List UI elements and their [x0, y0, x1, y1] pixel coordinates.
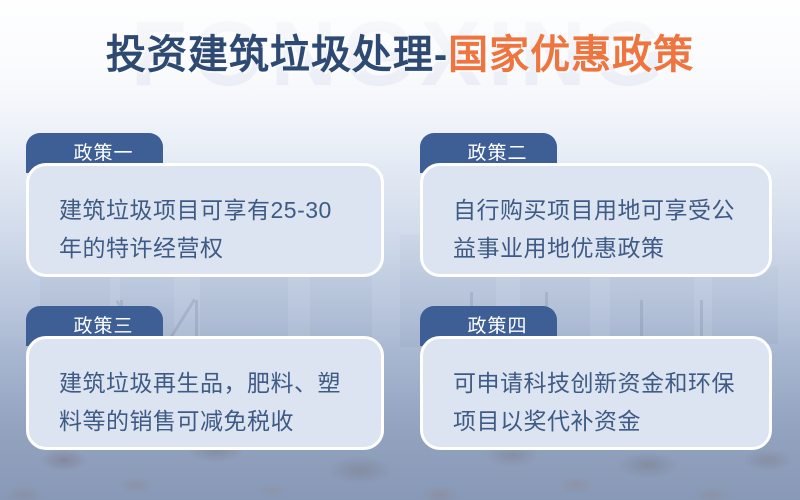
policy-card-4-tab-label: 政策四 — [467, 317, 527, 336]
policy-card-3-text: 建筑垃圾再生品，肥料、塑料等的销售可减免税收 — [59, 365, 353, 441]
policy-card-2-text: 自行购买项目用地可享受公益事业用地优惠政策 — [453, 192, 741, 268]
policy-card-2-tab-label: 政策二 — [467, 144, 527, 163]
policy-card-4-text: 可申请科技创新资金和环保项目以奖代补资金 — [453, 365, 741, 441]
policy-card-3-tab-label: 政策三 — [73, 317, 133, 336]
policy-card-2-body: 自行购买项目用地可享受公益事业用地优惠政策 — [420, 163, 772, 277]
policy-infographic-poster: FONGXING 投资建筑垃圾处理-国家优惠政策 政策一 建筑垃圾项目可享有25… — [0, 0, 800, 500]
page-title-primary: 投资建筑垃圾处理- — [106, 33, 448, 77]
policy-card-1-tab-label: 政策一 — [73, 144, 133, 163]
page-title-accent: 国家优惠政策 — [448, 33, 694, 77]
policy-card-4-body: 可申请科技创新资金和环保项目以奖代补资金 — [420, 336, 772, 450]
page-title: 投资建筑垃圾处理-国家优惠政策 — [0, 32, 800, 78]
policy-card-3-body: 建筑垃圾再生品，肥料、塑料等的销售可减免税收 — [26, 336, 384, 450]
policy-card-1-body: 建筑垃圾项目可享有25-30年的特许经营权 — [26, 163, 384, 277]
policy-card-1-text: 建筑垃圾项目可享有25-30年的特许经营权 — [59, 192, 353, 268]
